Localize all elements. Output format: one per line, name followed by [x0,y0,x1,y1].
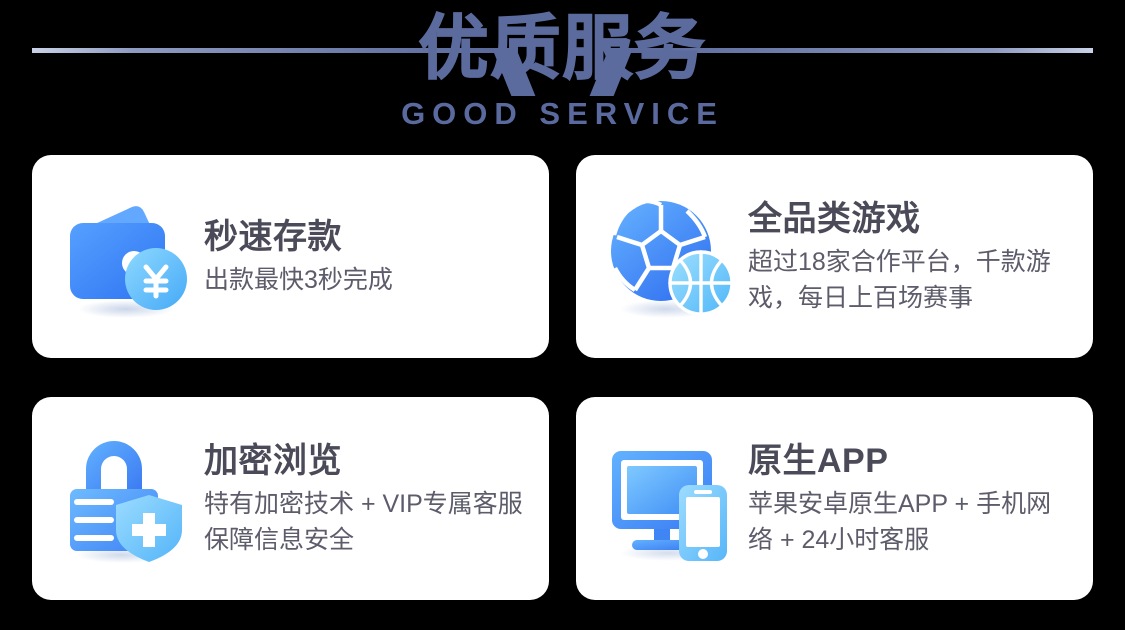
soccer-basketball-icon [604,191,736,323]
feature-card-grid: 秒速存款 出款最快3秒完成 [32,155,1093,600]
card-text-block: 秒速存款 出款最快3秒完成 [204,216,527,298]
section-header: 优质服务 GOOD SERVICE [0,0,1125,146]
wallet-yen-icon [60,191,192,323]
feature-card-encryption[interactable]: 加密浏览 特有加密技术 + VIP专属客服保障信息安全 [32,397,549,600]
good-service-panel: 优质服务 GOOD SERVICE [0,0,1125,630]
card-text-block: 加密浏览 特有加密技术 + VIP专属客服保障信息安全 [204,440,527,558]
card-title: 加密浏览 [204,440,527,482]
page-title: 优质服务 [0,8,1125,88]
card-description: 出款最快3秒完成 [204,262,527,298]
feature-card-games[interactable]: 全品类游戏 超过18家合作平台，千款游戏，每日上百场赛事 [576,155,1093,358]
feature-card-native-app[interactable]: 原生APP 苹果安卓原生APP + 手机网络 + 24小时客服 [576,397,1093,600]
card-description: 苹果安卓原生APP + 手机网络 + 24小时客服 [748,486,1071,558]
feature-card-deposit[interactable]: 秒速存款 出款最快3秒完成 [32,155,549,358]
card-title: 秒速存款 [204,216,527,258]
card-title: 全品类游戏 [748,198,1071,240]
monitor-phone-icon [604,433,736,565]
card-text-block: 全品类游戏 超过18家合作平台，千款游戏，每日上百场赛事 [748,198,1071,316]
card-description: 超过18家合作平台，千款游戏，每日上百场赛事 [748,244,1071,316]
card-text-block: 原生APP 苹果安卓原生APP + 手机网络 + 24小时客服 [748,440,1071,558]
lock-shield-icon [60,433,192,565]
page-subtitle: GOOD SERVICE [0,96,1125,132]
card-title: 原生APP [748,440,1071,482]
card-description: 特有加密技术 + VIP专属客服保障信息安全 [204,486,527,558]
